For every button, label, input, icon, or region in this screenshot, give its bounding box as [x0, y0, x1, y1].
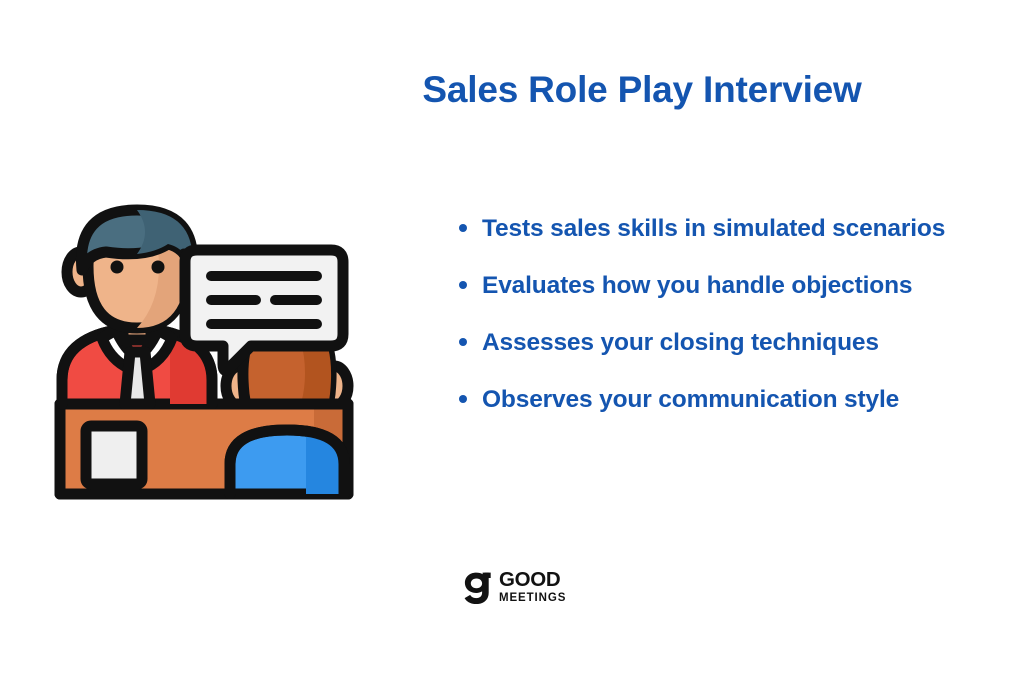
list-item: Assesses your closing techniques — [452, 324, 1012, 362]
list-item: Evaluates how you handle objections — [452, 267, 1012, 305]
page-title: Sales Role Play Interview — [0, 68, 1024, 112]
list-item-label: Assesses your closing techniques — [482, 324, 1012, 362]
list-item-label: Observes your communication style — [482, 381, 1012, 419]
candidate-shirt — [230, 430, 344, 494]
bullet-list: Tests sales skills in simulated scenario… — [452, 210, 1012, 419]
brand-logo: GOOD MEETINGS — [462, 570, 566, 604]
bullet-dot-icon — [459, 281, 467, 289]
logo-wordmark: GOOD MEETINGS — [499, 570, 566, 604]
bullet-dot-icon — [459, 338, 467, 346]
list-item: Tests sales skills in simulated scenario… — [452, 210, 1012, 248]
list-item-label: Evaluates how you handle objections — [482, 267, 1012, 305]
g-monogram-icon — [462, 570, 492, 604]
list-item: Observes your communication style — [452, 381, 1012, 419]
list-item-label: Tests sales skills in simulated scenario… — [482, 210, 1012, 248]
interview-illustration — [44, 204, 364, 526]
bullet-dot-icon — [459, 395, 467, 403]
bullet-dot-icon — [459, 224, 467, 232]
logo-primary-text: GOOD — [499, 570, 566, 591]
slide-canvas: Sales Role Play Interview — [0, 0, 1024, 682]
logo-secondary-text: MEETINGS — [499, 593, 566, 605]
